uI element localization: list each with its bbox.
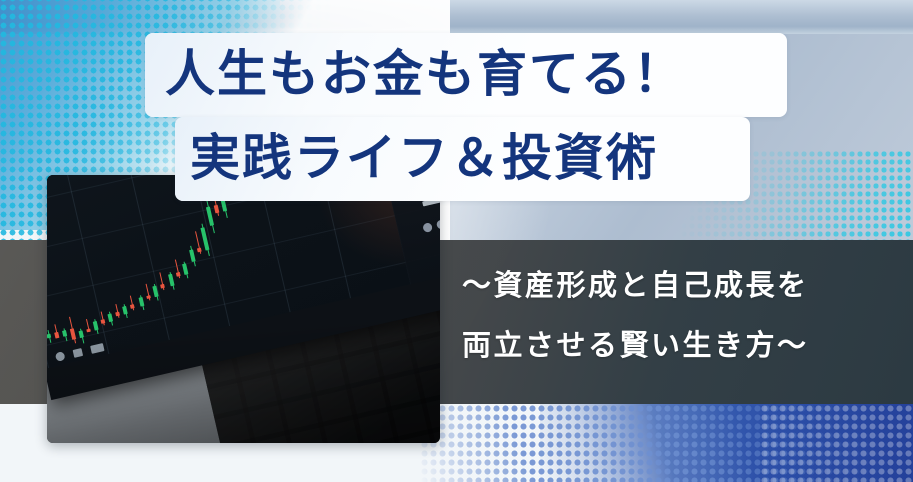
bookmark-icon[interactable] — [72, 348, 83, 358]
subtitle-line-2: 両立させる賢い生き方〜 — [462, 331, 892, 360]
banner-canvas: Bitcoin (USD) 🔍 + ☰ 1 Tag 3 Monate 7 Dez… — [0, 0, 913, 482]
halftone-dots-bottom-light — [760, 404, 913, 482]
laptop-trading-chart-photo: Bitcoin (USD) 🔍 + ☰ 1 Tag 3 Monate 7 Dez… — [47, 175, 440, 443]
page-title-line-1: 人生もお金も育てる！ — [165, 49, 685, 99]
subtitle-line-1: 〜資産形成と自己成長を — [462, 271, 892, 300]
page-title-line-2: 実践ライフ＆投資術 — [190, 133, 658, 183]
